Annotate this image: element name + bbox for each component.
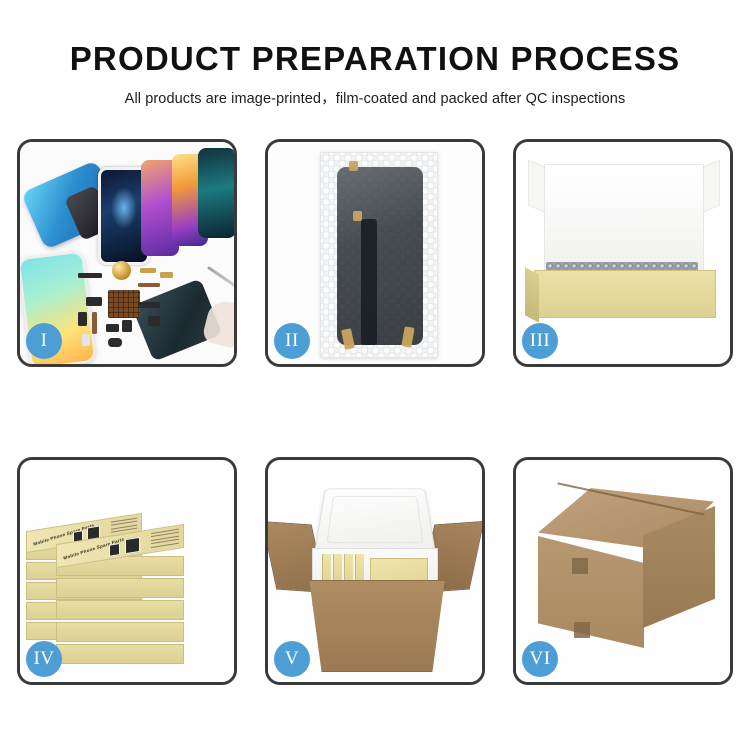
box-stack: Mobile Phone Spare Parts Mobile Phone Sp… (26, 486, 232, 666)
product-preparation-infographic: PRODUCT PREPARATION PROCESS All products… (0, 0, 750, 750)
tape-icon (349, 161, 358, 171)
box-text-lines (151, 529, 179, 550)
carton-tab-icon (572, 558, 588, 574)
step-badge-2: II (274, 323, 310, 359)
connector-icon (160, 272, 173, 278)
chip-icon (78, 312, 87, 326)
stacked-box (56, 578, 184, 598)
step-badge-1: I (26, 323, 62, 359)
process-step-panel-4[interactable]: Mobile Phone Spare Parts Mobile Phone Sp… (17, 457, 237, 685)
process-step-panel-6[interactable]: VI (513, 457, 733, 685)
step-badge-5: V (274, 641, 310, 677)
tape-icon (353, 211, 362, 221)
speaker-icon (108, 338, 122, 347)
stacked-box (56, 600, 184, 620)
chip-icon (138, 302, 160, 308)
process-step-panel-2[interactable]: II (265, 139, 485, 367)
stacked-box (56, 622, 184, 642)
page-title: PRODUCT PREPARATION PROCESS (0, 40, 750, 78)
lcd-screen-icon (337, 167, 423, 345)
step-badge-4: IV (26, 641, 62, 677)
carton-body-icon (300, 580, 454, 672)
small-screen-icon (82, 334, 90, 346)
flex-cable-icon (361, 219, 377, 345)
gold-component-icon (112, 261, 131, 280)
tweezers-icon (207, 266, 234, 293)
circuit-board-icon (108, 290, 140, 318)
process-step-panel-1[interactable]: I (17, 139, 237, 367)
yellow-box-tray-icon (534, 270, 716, 318)
chip-icon (106, 324, 119, 332)
chip-icon (122, 320, 132, 332)
flex-cable-icon (138, 283, 160, 287)
carton-tab-icon (574, 622, 590, 638)
box-window-icon (125, 537, 140, 554)
teal-phone-icon (198, 148, 234, 238)
process-step-panel-3[interactable]: III (513, 139, 733, 367)
connector-icon (140, 268, 156, 273)
carton-front-face (538, 536, 644, 648)
flex-cable-icon (92, 312, 97, 334)
process-step-panel-5[interactable]: V (265, 457, 485, 685)
bubble-wrap-bag-icon (320, 152, 438, 358)
process-step-grid: I II (17, 139, 733, 685)
chip-icon (86, 297, 102, 306)
stacked-box (56, 644, 184, 664)
step-badge-3: III (522, 323, 558, 359)
chip-icon (78, 273, 102, 278)
chip-icon (148, 316, 160, 326)
step-badge-6: VI (522, 641, 558, 677)
styrofoam-lid-icon (314, 489, 436, 554)
header: PRODUCT PREPARATION PROCESS All products… (0, 40, 750, 108)
box-window-icon (109, 543, 120, 557)
page-subtitle: All products are image-printed，film-coat… (0, 87, 750, 108)
